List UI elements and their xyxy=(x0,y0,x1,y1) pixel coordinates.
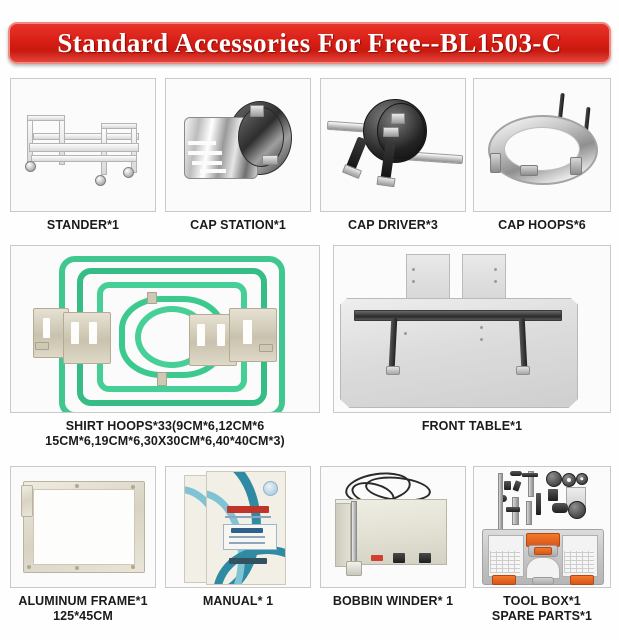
aluminum-frame-caption: ALUMINUM FRAME*1 125*45CM xyxy=(10,594,156,623)
item-cap-hoops: CAP HOOPS*6 xyxy=(473,78,611,233)
item-bobbin-winder: BOBBIN WINDER* 1 xyxy=(320,466,466,609)
bobbin-winder-image xyxy=(320,466,466,588)
bobbin-winder-caption: BOBBIN WINDER* 1 xyxy=(320,594,466,609)
tool-box-caption-line2: SPARE PARTS*1 xyxy=(473,609,611,624)
stander-image xyxy=(10,78,156,212)
manual-caption: MANUAL* 1 xyxy=(165,594,311,609)
aluminum-frame-image xyxy=(10,466,156,588)
cap-station-caption: CAP STATION*1 xyxy=(165,218,311,233)
item-aluminum-frame: ALUMINUM FRAME*1 125*45CM xyxy=(10,466,156,623)
item-cap-station: CAP STATION*1 xyxy=(165,78,311,233)
cap-hoops-caption: CAP HOOPS*6 xyxy=(473,218,611,233)
item-front-table: FRONT TABLE*1 xyxy=(333,245,611,434)
cap-hoops-image xyxy=(473,78,611,212)
item-cap-driver: CAP DRIVER*3 xyxy=(320,78,466,233)
manual-image xyxy=(165,466,311,588)
cap-driver-image xyxy=(320,78,466,212)
aluminum-frame-caption-line1: ALUMINUM FRAME*1 xyxy=(18,594,147,608)
title-banner-body: Standard Accessories For Free--BL1503-C xyxy=(8,22,611,64)
item-manual: MANUAL* 1 xyxy=(165,466,311,609)
cap-station-image xyxy=(165,78,311,212)
accessories-poster: Standard Accessories For Free--BL1503-C xyxy=(0,0,619,640)
cap-driver-caption: CAP DRIVER*3 xyxy=(320,218,466,233)
aluminum-frame-caption-line2: 125*45CM xyxy=(10,609,156,624)
front-table-image xyxy=(333,245,611,413)
item-tool-box: TOOL BOX*1 SPARE PARTS*1 xyxy=(473,466,611,623)
tool-box-image xyxy=(473,466,611,588)
shirt-hoops-image xyxy=(10,245,320,413)
title-banner: Standard Accessories For Free--BL1503-C xyxy=(8,22,611,64)
shirt-hoops-caption: SHIRT HOOPS*33(9CM*6,12CM*6 15CM*6,19CM*… xyxy=(10,419,320,448)
tool-box-caption: TOOL BOX*1 SPARE PARTS*1 xyxy=(473,594,611,623)
page-title: Standard Accessories For Free--BL1503-C xyxy=(57,28,561,59)
shirt-hoops-caption-line1: SHIRT HOOPS*33(9CM*6,12CM*6 xyxy=(66,419,265,433)
shirt-hoops-caption-line2: 15CM*6,19CM*6,30X30CM*6,40*40CM*3) xyxy=(10,434,320,449)
stander-caption: STANDER*1 xyxy=(10,218,156,233)
front-table-caption: FRONT TABLE*1 xyxy=(333,419,611,434)
item-stander: STANDER*1 xyxy=(10,78,156,233)
tool-box-caption-line1: TOOL BOX*1 xyxy=(503,594,581,608)
item-shirt-hoops: SHIRT HOOPS*33(9CM*6,12CM*6 15CM*6,19CM*… xyxy=(10,245,320,448)
